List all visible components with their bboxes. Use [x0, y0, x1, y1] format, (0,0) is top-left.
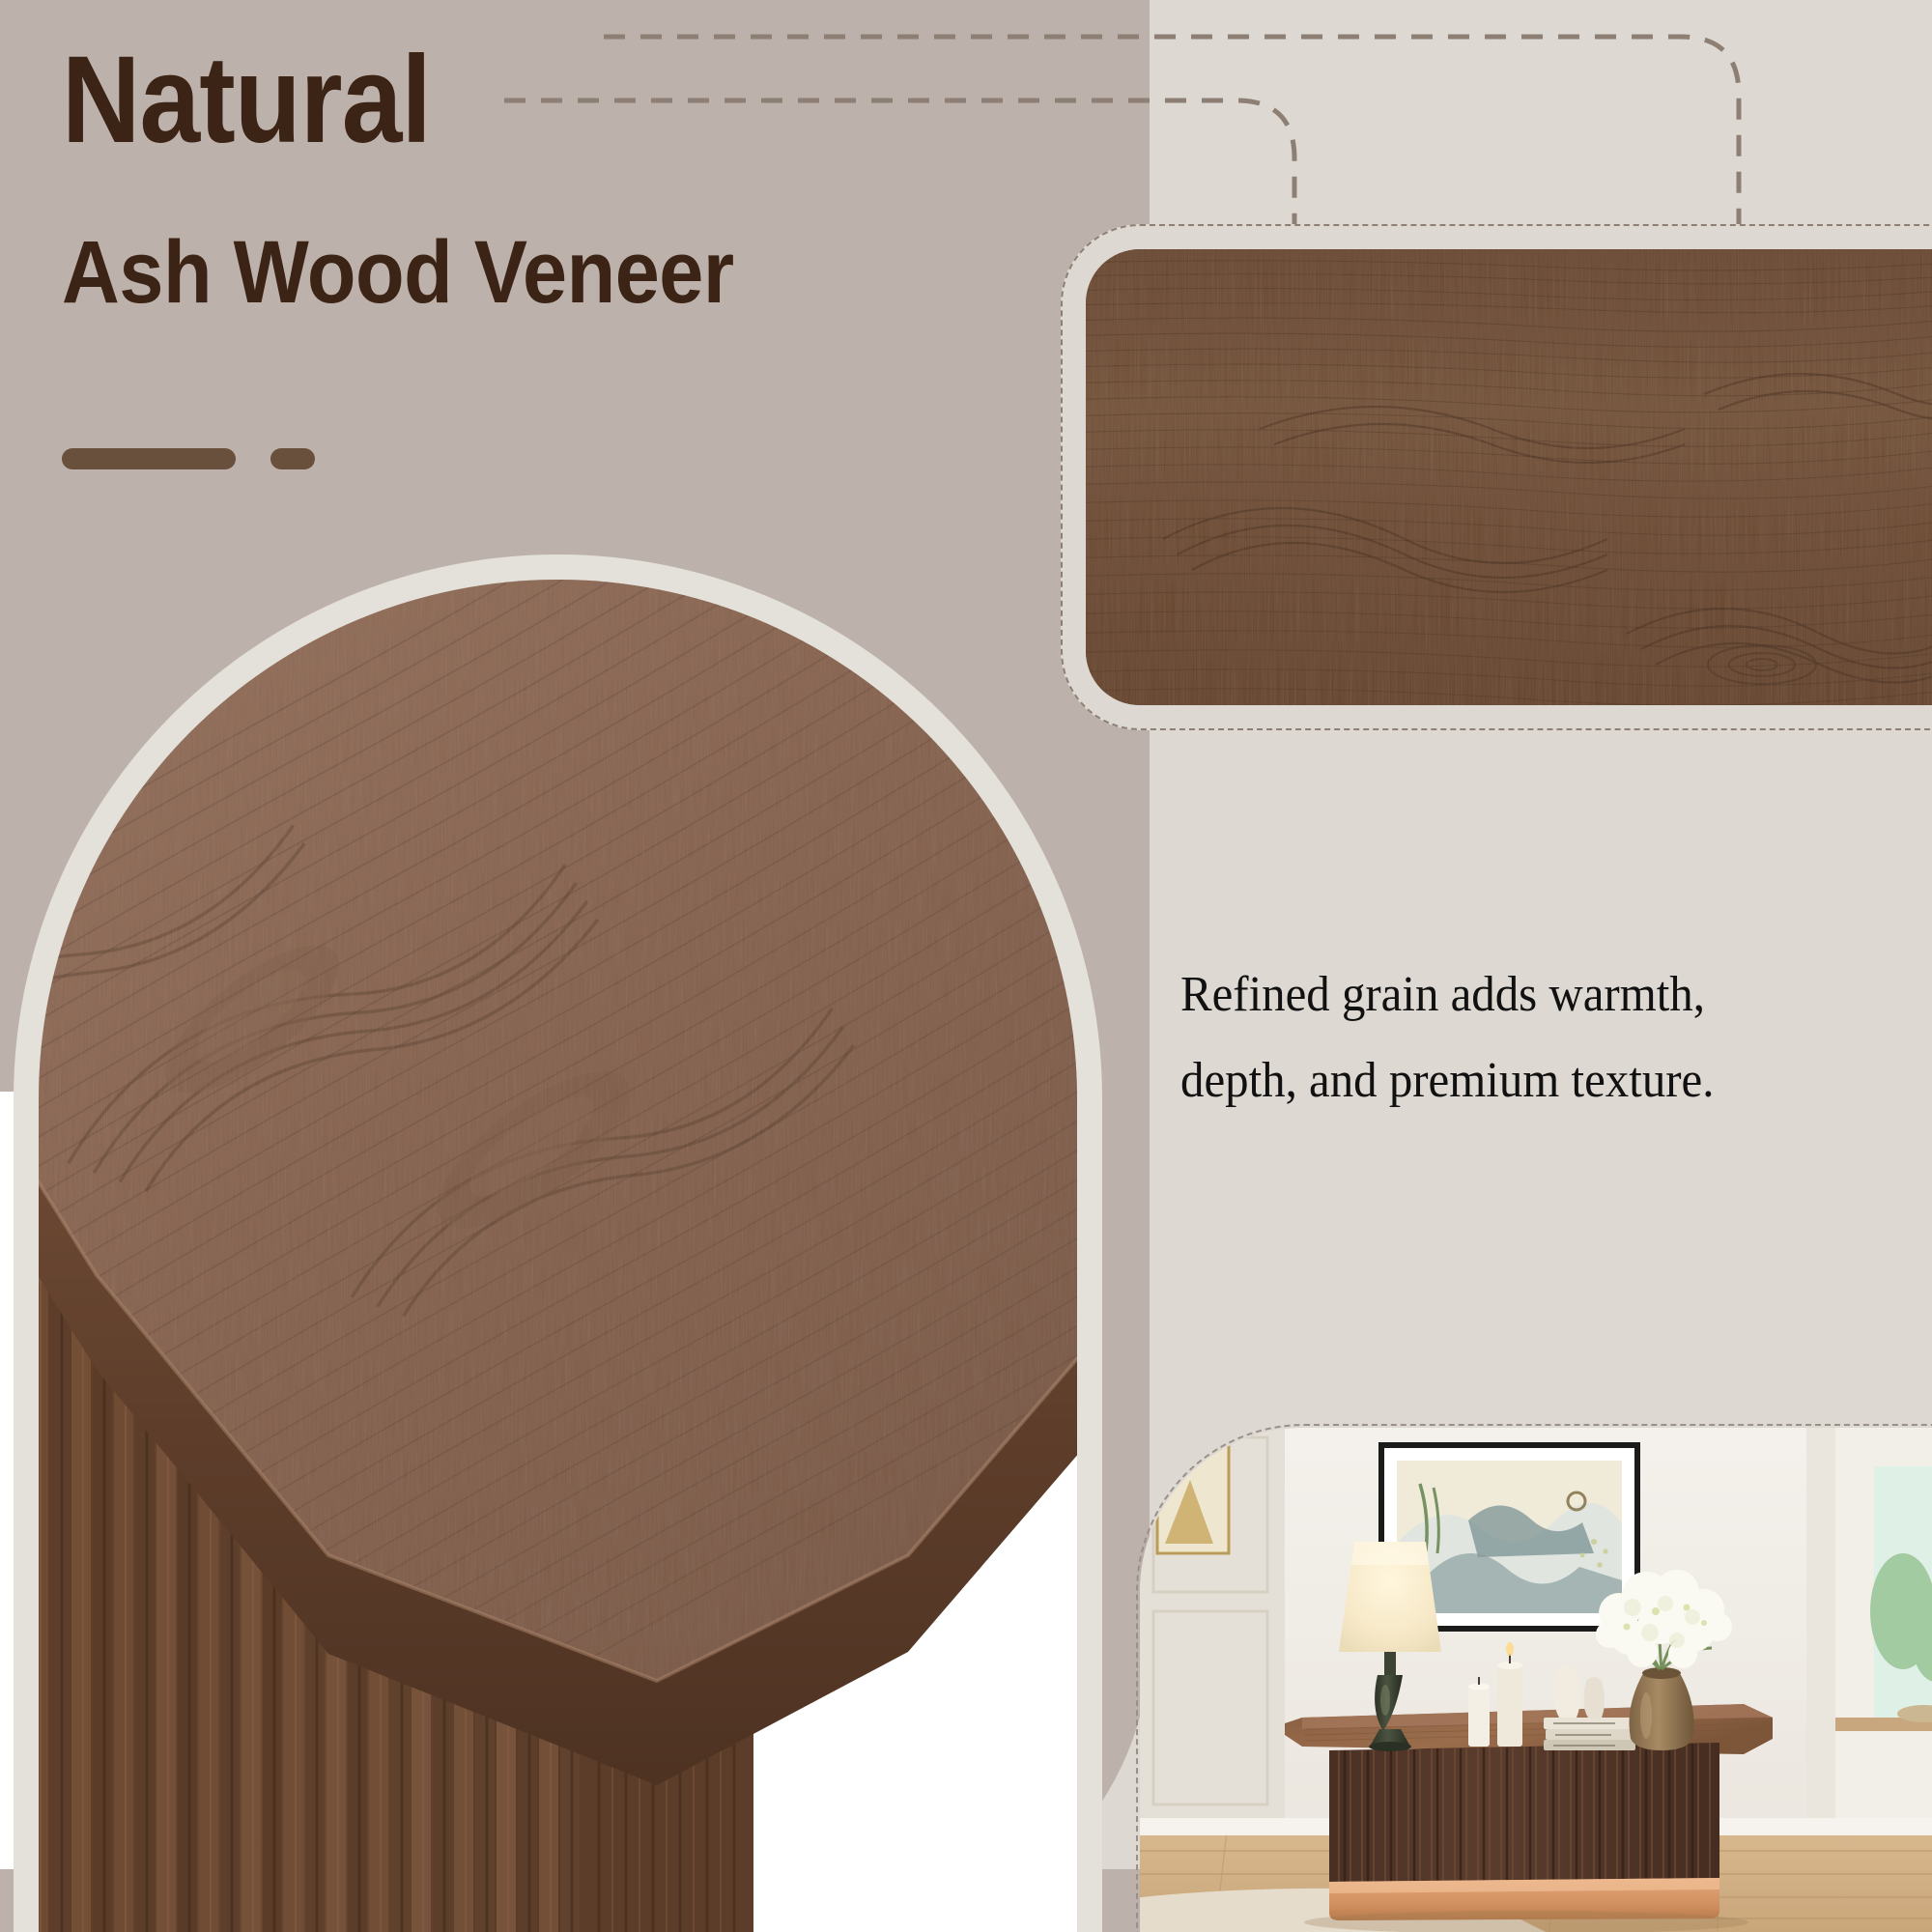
headline-block: Natural Ash Wood Veneer	[62, 39, 893, 317]
body-copy-line-2: depth, and premium texture.	[1180, 1037, 1870, 1123]
wood-swatch-graphic	[1086, 249, 1932, 705]
accent-bar-long	[62, 448, 236, 469]
book-stack	[1544, 1718, 1635, 1750]
styled-room-scene	[1140, 1428, 1932, 1932]
accent-divider	[62, 448, 315, 469]
body-copy: Refined grain adds warmth, depth, and pr…	[1180, 952, 1870, 1124]
tabletop-corner-graphic	[39, 580, 1077, 1932]
room-scene-graphic	[1140, 1428, 1932, 1932]
body-copy-line-1: Refined grain adds warmth,	[1180, 952, 1870, 1037]
accent-bar-short	[270, 448, 315, 469]
tabletop-corner-detail	[39, 580, 1077, 1932]
ash-wood-veneer-swatch	[1086, 249, 1932, 705]
poster-canvas: Natural Ash Wood Veneer	[0, 0, 1932, 1932]
page-title: Natural	[62, 39, 793, 162]
page-subtitle: Ash Wood Veneer	[62, 228, 810, 317]
